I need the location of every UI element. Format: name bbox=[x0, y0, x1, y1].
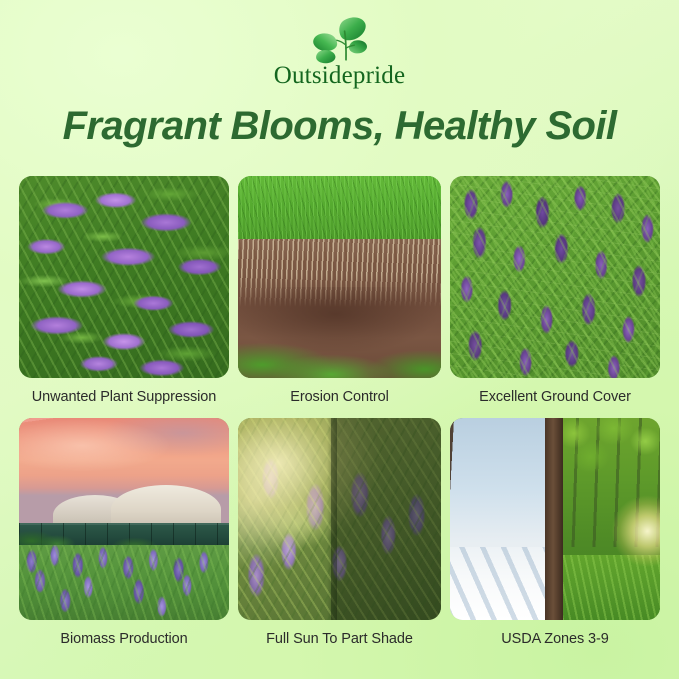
page-title: Fragrant Blooms, Healthy Soil bbox=[0, 104, 679, 149]
feature-grid: Unwanted Plant Suppression Erosion Contr… bbox=[19, 176, 660, 651]
soil-erosion-photo bbox=[238, 176, 441, 378]
feature-card-excellent-ground-cover: Excellent Ground Cover bbox=[450, 176, 660, 409]
feature-card-full-sun-to-part-shade: Full Sun To Part Shade bbox=[238, 418, 441, 651]
sun-shade-split-photo bbox=[238, 418, 441, 620]
feature-caption: Erosion Control bbox=[290, 385, 388, 409]
sprout-leaves-icon bbox=[303, 14, 377, 66]
photo-layer-turf-texture bbox=[238, 176, 441, 239]
biomass-facility-photo bbox=[19, 418, 229, 620]
photo-layer-lower-grass bbox=[238, 334, 441, 378]
feature-caption: Unwanted Plant Suppression bbox=[32, 385, 216, 409]
feature-card-erosion-control: Erosion Control bbox=[238, 176, 441, 409]
feature-caption: USDA Zones 3-9 bbox=[501, 627, 608, 651]
photo-layer-roots bbox=[238, 235, 441, 308]
brand-wordmark: Outsidepride bbox=[274, 63, 406, 88]
photo-layer-foreground bbox=[450, 176, 660, 378]
feature-caption: Excellent Ground Cover bbox=[479, 385, 631, 409]
photo-layer-winter-trees bbox=[450, 418, 555, 620]
ground-cover-photo bbox=[450, 176, 660, 378]
infographic-card: Outsidepride Fragrant Blooms, Healthy So… bbox=[0, 0, 679, 679]
vetch-bloom-photo bbox=[19, 176, 229, 378]
brand-header: Outsidepride bbox=[0, 14, 679, 94]
photo-layer-sun-flare bbox=[555, 418, 660, 620]
feature-caption: Full Sun To Part Shade bbox=[266, 627, 413, 651]
photo-layer-center-trunk bbox=[545, 418, 564, 620]
usda-zones-seasons-photo bbox=[450, 418, 660, 620]
feature-card-biomass-production: Biomass Production bbox=[19, 418, 229, 651]
photo-layer-field-texture bbox=[19, 545, 229, 620]
photo-layer-blooms bbox=[19, 176, 229, 378]
feature-caption: Biomass Production bbox=[60, 627, 187, 651]
feature-card-usda-zones: USDA Zones 3-9 bbox=[450, 418, 660, 651]
photo-layer-shade bbox=[331, 418, 441, 620]
feature-card-unwanted-plant-suppression: Unwanted Plant Suppression bbox=[19, 176, 229, 409]
